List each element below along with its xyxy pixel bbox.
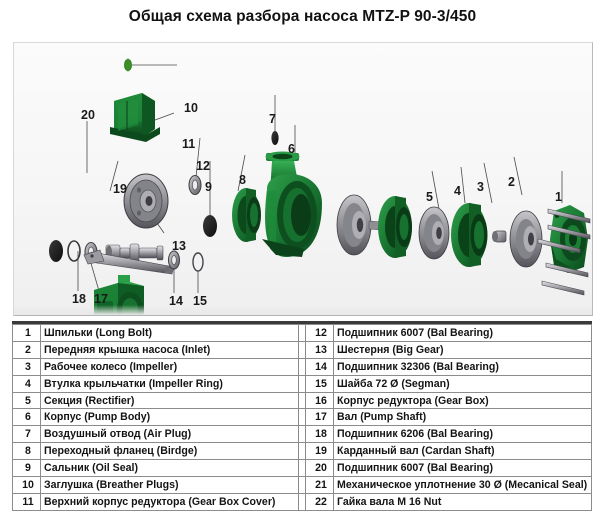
table-row: 3 Рабочее колесо (Impeller) 14 Подшипник… [13,358,592,375]
part-description: Рабочее колесо (Impeller) [41,358,299,375]
table-row: 5 Секция (Rectifier) 16 Корпус редуктора… [13,392,592,409]
part-description: Корпус (Pump Body) [41,409,299,426]
part-6-pump-body [262,152,322,258]
exploded-diagram-panel: 1 2 3 4 5 6 7 8 9 10 11 12 13 14 15 16 1… [13,42,593,316]
callout-1: 1 [555,191,562,204]
callout-6: 6 [288,143,295,156]
callout-19: 19 [113,183,127,196]
part-number: 10 [13,477,41,494]
part-description: Верхний корпус редуктора (Gear Box Cover… [41,493,299,510]
column-gap [299,493,306,510]
part-description: Воздушный отвод (Air Plug) [41,426,299,443]
part-description: Передняя крышка насоса (Inlet) [41,341,299,358]
callout-18: 18 [72,293,86,306]
part-11-gear-box-cover [110,93,160,142]
part-3-impeller-left [337,195,382,255]
parts-table-body: 1 Шпильки (Long Bolt) 12 Подшипник 6007 … [13,325,592,511]
part-number: 22 [306,493,334,510]
column-gap [299,409,306,426]
pump-exploded-svg [14,43,592,315]
page-title: Общая схема разбора насоса MTZ-P 90-3/45… [0,8,605,26]
part-number: 5 [13,392,41,409]
part-description: Шпильки (Long Bolt) [41,325,299,342]
part-number: 2 [13,341,41,358]
part-description: Шайба 72 Ø (Segman) [334,375,592,392]
table-row: 7 Воздушный отвод (Air Plug) 18 Подшипни… [13,426,592,443]
column-gap [299,392,306,409]
part-description: Секция (Rectifier) [41,392,299,409]
part-number: 13 [306,341,334,358]
part-description: Шестерня (Big Gear) [334,341,592,358]
part-number: 3 [13,358,41,375]
table-row: 10 Заглушка (Breather Plugs) 21 Механиче… [13,477,592,494]
callout-5: 5 [426,191,433,204]
part-number: 17 [306,409,334,426]
part-number: 4 [13,375,41,392]
part-5-rectifier [451,203,488,267]
part-description: Заглушка (Breather Plugs) [41,477,299,494]
callout-2: 2 [508,176,515,189]
part-description: Сальник (Oil Seal) [41,460,299,477]
callout-4: 4 [454,185,461,198]
part-number: 11 [13,493,41,510]
part-number: 16 [306,392,334,409]
callout-13: 13 [172,240,186,253]
part-description: Подшипник 6206 (Bal Bearing) [334,426,592,443]
callout-8: 8 [239,174,246,187]
part-5-rectifier-left [378,196,412,258]
part-number: 19 [306,443,334,460]
callout-3: 3 [477,181,484,194]
callout-9: 9 [205,181,212,194]
table-row: 2 Передняя крышка насоса (Inlet) 13 Шест… [13,341,592,358]
table-row: 6 Корпус (Pump Body) 17 Вал (Pump Shaft) [13,409,592,426]
part-description: Карданный вал (Cardan Shaft) [334,443,592,460]
part-number: 18 [306,426,334,443]
part-number: 6 [13,409,41,426]
column-gap [299,325,306,342]
part-number: 7 [13,426,41,443]
column-gap [299,460,306,477]
column-gap [299,375,306,392]
table-row: 11 Верхний корпус редуктора (Gear Box Co… [13,493,592,510]
callout-12: 12 [196,160,210,173]
part-4-impeller-ring [492,231,506,242]
table-row: 8 Переходный фланец (Birdge) 19 Карданны… [13,443,592,460]
part-15-segman-washer [193,253,203,271]
table-row: 4 Втулка крыльчатки (Impeller Ring) 15 Ш… [13,375,592,392]
part-description: Переходный фланец (Birdge) [41,443,299,460]
part-number: 14 [306,358,334,375]
column-gap [299,358,306,375]
part-description: Вал (Pump Shaft) [334,409,592,426]
part-8-bridge-flange [232,188,261,242]
callout-20: 20 [81,109,95,122]
column-gap [299,443,306,460]
column-gap [299,341,306,358]
column-gap [299,477,306,494]
part-description: Гайка вала M 16 Nut [334,493,592,510]
callout-15: 15 [193,295,207,308]
callout-17: 17 [94,293,108,306]
part-description: Корпус редуктора (Gear Box) [334,392,592,409]
part-number: 15 [306,375,334,392]
part-number: 20 [306,460,334,477]
part-7-air-plug [271,131,278,145]
part-21-mechanical-seal [49,240,63,262]
part-10-breather-plug [124,58,132,72]
parts-legend-table: 1 Шпильки (Long Bolt) 12 Подшипник 6007 … [12,321,592,499]
part-12-bearing-6007 [189,176,201,195]
part-14-bearing-32306 [169,251,180,269]
part-3-impeller-mid [419,207,449,259]
part-number: 1 [13,325,41,342]
callout-10: 10 [184,102,198,115]
part-description: Механическое уплотнение 30 Ø (Mecanical … [334,477,592,494]
part-description: Подшипник 6007 (Bal Bearing) [334,460,592,477]
part-13-big-gear [124,174,168,228]
part-description: Подшипник 32306 (Bal Bearing) [334,358,592,375]
part-number: 9 [13,460,41,477]
callout-11: 11 [182,138,195,151]
part-number: 8 [13,443,41,460]
column-gap [299,426,306,443]
part-3-impeller [510,211,542,267]
part-description: Подшипник 6007 (Bal Bearing) [334,325,592,342]
page-root: Общая схема разбора насоса MTZ-P 90-3/45… [0,0,605,500]
part-9-oil-seal [203,215,217,237]
table-row: 9 Сальник (Oil Seal) 20 Подшипник 6007 (… [13,460,592,477]
callout-14: 14 [169,295,183,308]
callout-7: 7 [269,113,276,126]
table-row: 1 Шпильки (Long Bolt) 12 Подшипник 6007 … [13,325,592,342]
part-number: 12 [306,325,334,342]
part-description: Втулка крыльчатки (Impeller Ring) [41,375,299,392]
part-number: 21 [306,477,334,494]
